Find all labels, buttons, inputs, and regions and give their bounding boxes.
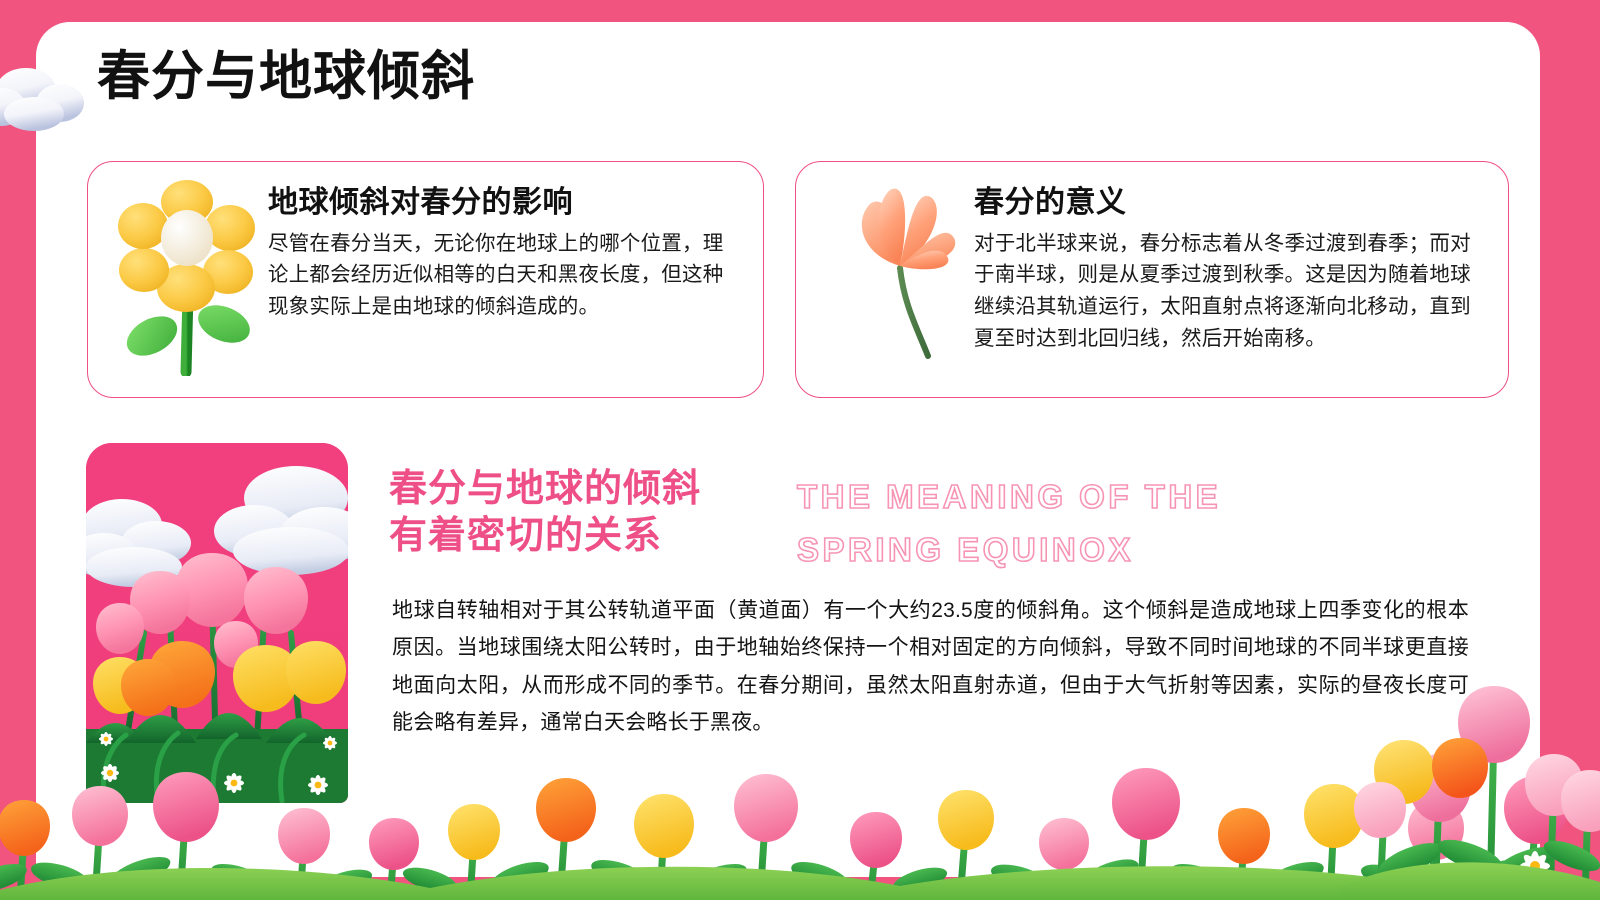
tulip-field-illustration [86, 443, 348, 803]
card-title: 春分的意义 [974, 186, 1486, 221]
info-card-equinox-meaning[interactable]: 春分的意义 对于北半球来说，春分标志着从冬季过渡到春季；而对于南半球，则是从夏季… [795, 161, 1509, 398]
card-text: 尽管在春分当天，无论你在地球上的哪个位置，理论上都会经历近似相等的白天和黑夜长度… [268, 228, 741, 324]
body-paragraph: 地球自转轴相对于其公转轨道平面（黄道面）有一个大约23.5度的倾斜角。这个倾斜是… [392, 592, 1469, 742]
card-body: 地球倾斜对春分的影响 尽管在春分当天，无论你在地球上的哪个位置，理论上都会经历近… [268, 186, 741, 323]
card-body: 春分的意义 对于北半球来说，春分标志着从冬季过渡到春季；而对于南半球，则是从夏季… [974, 186, 1486, 355]
slide-canvas: 春分与地球倾斜 [0, 0, 1600, 900]
card-title: 地球倾斜对春分的影响 [268, 186, 741, 221]
tulip-photo-card[interactable] [86, 443, 348, 803]
section-heading: 春分与地球的倾斜 有着密切的关系 [389, 466, 701, 559]
card-text: 对于北半球来说，春分标志着从冬季过渡到春季；而对于南半球，则是从夏季过渡到秋季。… [974, 228, 1486, 356]
section-subheading-english: THE MEANING OF THE SPRING EQUINOX [797, 470, 1221, 577]
page-title: 春分与地球倾斜 [97, 48, 475, 106]
yellow-flower-icon [116, 176, 266, 376]
orange-tulip-icon [824, 176, 974, 376]
info-card-earth-tilt[interactable]: 地球倾斜对春分的影响 尽管在春分当天，无论你在地球上的哪个位置，理论上都会经历近… [87, 161, 764, 398]
